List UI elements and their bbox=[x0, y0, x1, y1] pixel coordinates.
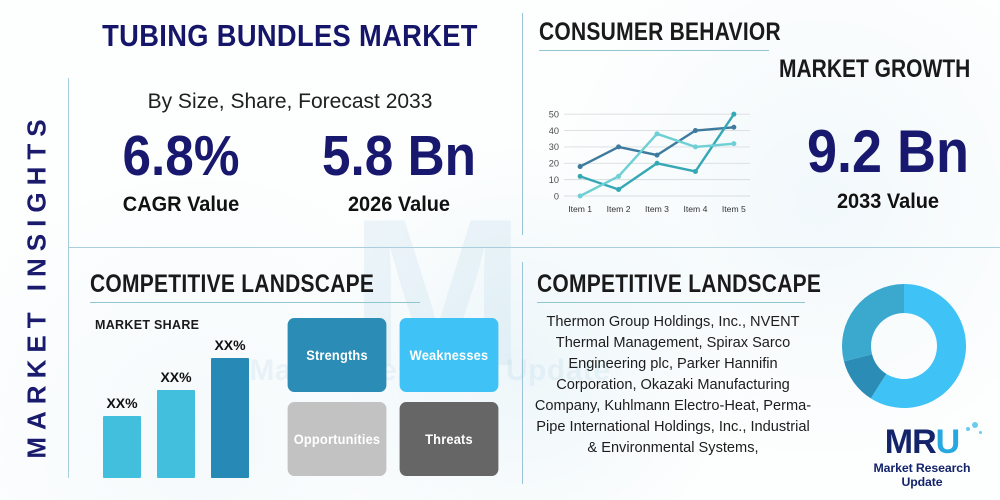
data-point bbox=[578, 194, 583, 199]
x-axis-tick-label: Item 1 bbox=[568, 204, 592, 214]
horizontal-divider bbox=[68, 247, 1000, 248]
y-axis-tick-label: 0 bbox=[554, 191, 559, 201]
bar-value-label: XX% bbox=[201, 337, 259, 353]
y-axis-tick-label: 20 bbox=[549, 159, 559, 169]
logo-bubble-icon-3 bbox=[979, 431, 982, 434]
section-rule-competitive-landscape-left bbox=[90, 302, 420, 303]
donut-slice bbox=[842, 284, 904, 361]
logo-tagline: Market Research Update bbox=[852, 461, 992, 489]
x-axis-tick-label: Item 5 bbox=[722, 204, 746, 214]
section-rule-consumer-behavior bbox=[539, 50, 769, 51]
bar-column: XX% bbox=[157, 318, 195, 478]
section-header-competitive-landscape-right: COMPETITIVE LANDSCAPE bbox=[537, 270, 821, 299]
market-share-bar-chart: MARKET SHARE XX%XX%XX% bbox=[95, 318, 270, 478]
section-header-consumer-behavior: CONSUMER BEHAVIOR bbox=[539, 18, 781, 47]
bar-rect bbox=[157, 390, 195, 478]
stat-2033-caption: 2033 Value bbox=[785, 190, 990, 214]
logo-mark-light: U bbox=[936, 423, 960, 461]
stat-cagr-value: 6.8% bbox=[83, 128, 279, 185]
bar-rect bbox=[103, 416, 141, 478]
data-point bbox=[655, 131, 660, 136]
vertical-divider-bottom bbox=[522, 262, 523, 484]
company-list: Thermon Group Holdings, Inc., NVENT Ther… bbox=[530, 312, 816, 459]
bar-column: XX% bbox=[211, 318, 249, 478]
data-point bbox=[731, 141, 736, 146]
logo-mark: MRU bbox=[852, 424, 992, 460]
consumer-behavior-line-chart: 01020304050Item 1Item 2Item 3Item 4Item … bbox=[538, 100, 758, 218]
stat-cagr-caption: CAGR Value bbox=[77, 193, 284, 217]
swot-box-threats[interactable]: Threats bbox=[400, 402, 499, 476]
swot-grid: StrengthsWeaknessesOpportunitiesThreats bbox=[285, 318, 501, 478]
data-point bbox=[616, 174, 621, 179]
y-axis-tick-label: 10 bbox=[549, 175, 559, 185]
data-point bbox=[578, 164, 583, 169]
infographic-canvas: M Market Research Update MARKET INSIGHTS… bbox=[0, 0, 1000, 500]
stat-2033: 9.2 Bn 2033 Value bbox=[780, 122, 996, 214]
stat-2026: 5.8 Bn 2026 Value bbox=[288, 128, 510, 217]
logo-bubble-icon-1 bbox=[972, 422, 978, 428]
stat-cagr: 6.8% CAGR Value bbox=[72, 128, 290, 217]
logo-mark-dark: MR bbox=[885, 423, 936, 461]
bar-column: XX% bbox=[103, 318, 141, 478]
rail-divider bbox=[68, 78, 69, 478]
x-axis-tick-label: Item 2 bbox=[607, 204, 631, 214]
competitive-landscape-donut bbox=[840, 282, 968, 410]
data-point bbox=[578, 174, 583, 179]
y-axis-tick-label: 50 bbox=[549, 109, 559, 119]
data-point bbox=[655, 161, 660, 166]
data-point bbox=[655, 153, 660, 158]
bar-rect bbox=[211, 358, 249, 478]
bar-value-label: XX% bbox=[147, 369, 205, 385]
logo-bubble-icon-2 bbox=[966, 427, 970, 431]
data-point bbox=[731, 125, 736, 130]
data-point bbox=[693, 128, 698, 133]
x-axis-tick-label: Item 4 bbox=[683, 204, 707, 214]
page-subtitle: By Size, Share, Forecast 2033 bbox=[70, 90, 510, 114]
vertical-divider-top bbox=[522, 13, 523, 235]
bar-value-label: XX% bbox=[93, 395, 151, 411]
line-series bbox=[580, 114, 734, 189]
data-point bbox=[693, 169, 698, 174]
section-header-competitive-landscape-left: COMPETITIVE LANDSCAPE bbox=[90, 270, 374, 299]
data-point bbox=[616, 144, 621, 149]
y-axis-tick-label: 40 bbox=[549, 126, 559, 136]
section-header-market-growth: MARKET GROWTH bbox=[779, 55, 970, 84]
page-title: TUBING BUNDLES MARKET bbox=[96, 18, 483, 54]
swot-box-weaknesses[interactable]: Weaknesses bbox=[400, 318, 499, 392]
swot-box-opportunities[interactable]: Opportunities bbox=[288, 402, 387, 476]
stat-2026-value: 5.8 Bn bbox=[299, 128, 499, 185]
market-insights-rail-label: MARKET INSIGHTS bbox=[22, 76, 53, 496]
data-point bbox=[616, 187, 621, 192]
stat-2026-caption: 2026 Value bbox=[294, 193, 505, 217]
y-axis-tick-label: 30 bbox=[549, 142, 559, 152]
mru-logo: MRU Market Research Update bbox=[852, 424, 992, 484]
data-point bbox=[731, 112, 736, 117]
data-point bbox=[693, 144, 698, 149]
swot-box-strengths[interactable]: Strengths bbox=[288, 318, 387, 392]
stat-2033-value: 9.2 Bn bbox=[791, 122, 985, 182]
section-rule-competitive-landscape-right bbox=[537, 302, 805, 303]
x-axis-tick-label: Item 3 bbox=[645, 204, 669, 214]
